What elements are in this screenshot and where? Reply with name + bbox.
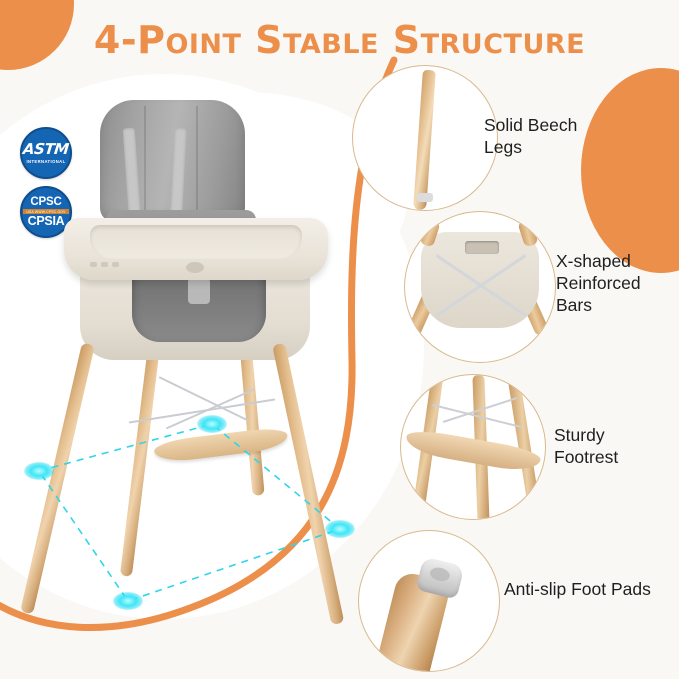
tray-release-buttons — [90, 262, 119, 267]
callout-circle-solid-beech-legs — [352, 65, 498, 211]
callout-circle-x-shaped-bars — [404, 211, 556, 363]
detail-beech-leg — [413, 70, 436, 211]
feature-label-sturdy-footrest: Sturdy Footrest — [554, 424, 618, 468]
detail-seat-underside — [421, 232, 539, 328]
stability-point-front — [113, 592, 143, 610]
feature-label-x-shaped-bars: X-shaped Reinforced Bars — [556, 250, 641, 316]
feature-label-anti-slip-foot-pads: Anti-slip Foot Pads — [504, 578, 651, 600]
tray-recess — [90, 225, 302, 259]
cpsc-label: CPSC — [30, 196, 61, 208]
stability-point-back — [197, 415, 227, 433]
chair-leg-front-right — [272, 343, 344, 625]
stability-point-right — [325, 520, 355, 538]
detail-seat-slot — [465, 241, 499, 254]
callout-circle-anti-slip-foot-pads — [358, 530, 500, 672]
brand-logo-mark — [186, 262, 204, 273]
detail-leg-foot-pad — [417, 193, 433, 202]
stability-point-left — [24, 462, 54, 480]
callout-circle-sturdy-footrest — [400, 374, 546, 520]
feature-label-solid-beech-legs: Solid Beech Legs — [484, 114, 577, 158]
right-orange-blob — [581, 68, 679, 273]
crotch-belt-buckle — [188, 278, 210, 304]
chair-footrest — [153, 426, 289, 464]
page-title: 4-Point Stable Structure — [0, 18, 679, 62]
chair-tray — [64, 218, 328, 280]
product-high-chair-photo — [58, 92, 348, 612]
infographic-canvas: 4-Point Stable Structure ASTM INTERNATIO… — [0, 0, 679, 679]
